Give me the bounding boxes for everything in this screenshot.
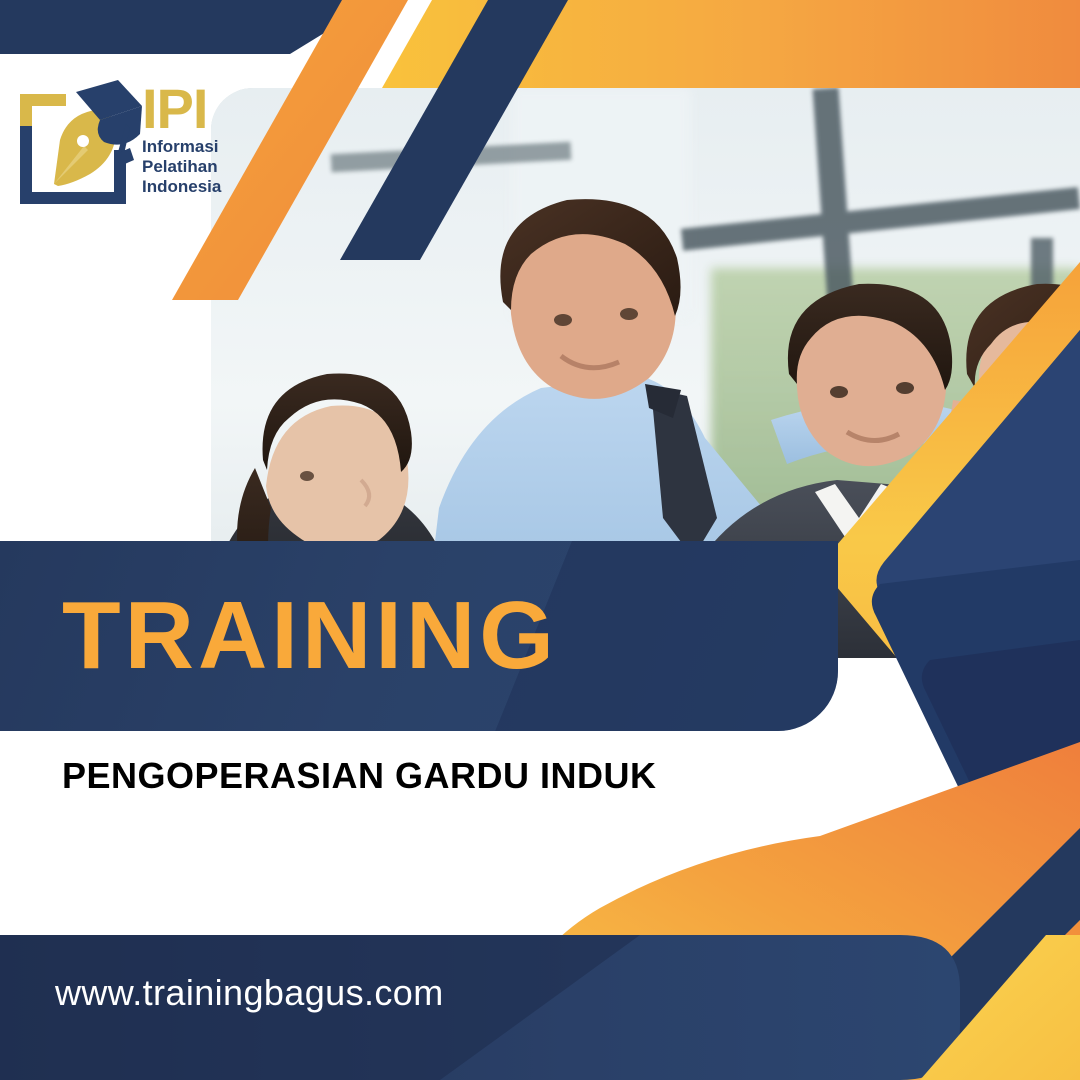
logo-initials: IPI [142, 82, 232, 135]
title-banner: TRAINING [0, 541, 838, 731]
footer-website[interactable]: www.trainingbagus.com [55, 972, 444, 1014]
brand-logo[interactable]: IPI Informasi Pelatihan Indonesia [14, 80, 224, 210]
logo-tagline-line-3: Indonesia [142, 177, 232, 197]
logo-tagline: Informasi Pelatihan Indonesia [142, 137, 232, 197]
page-title: TRAINING [62, 588, 558, 684]
poster-canvas: TRAINING PENGOPERASIAN GARDU INDUK www.t… [0, 0, 1080, 1080]
graduation-cap-pen-nib-frame-icon [14, 80, 144, 210]
logo-wordmark: IPI Informasi Pelatihan Indonesia [142, 82, 232, 197]
logo-tagline-line-2: Pelatihan [142, 157, 232, 177]
page-subtitle: PENGOPERASIAN GARDU INDUK [62, 755, 657, 797]
logo-tagline-line-1: Informasi [142, 137, 232, 157]
logo-mark-shapes [14, 80, 144, 210]
